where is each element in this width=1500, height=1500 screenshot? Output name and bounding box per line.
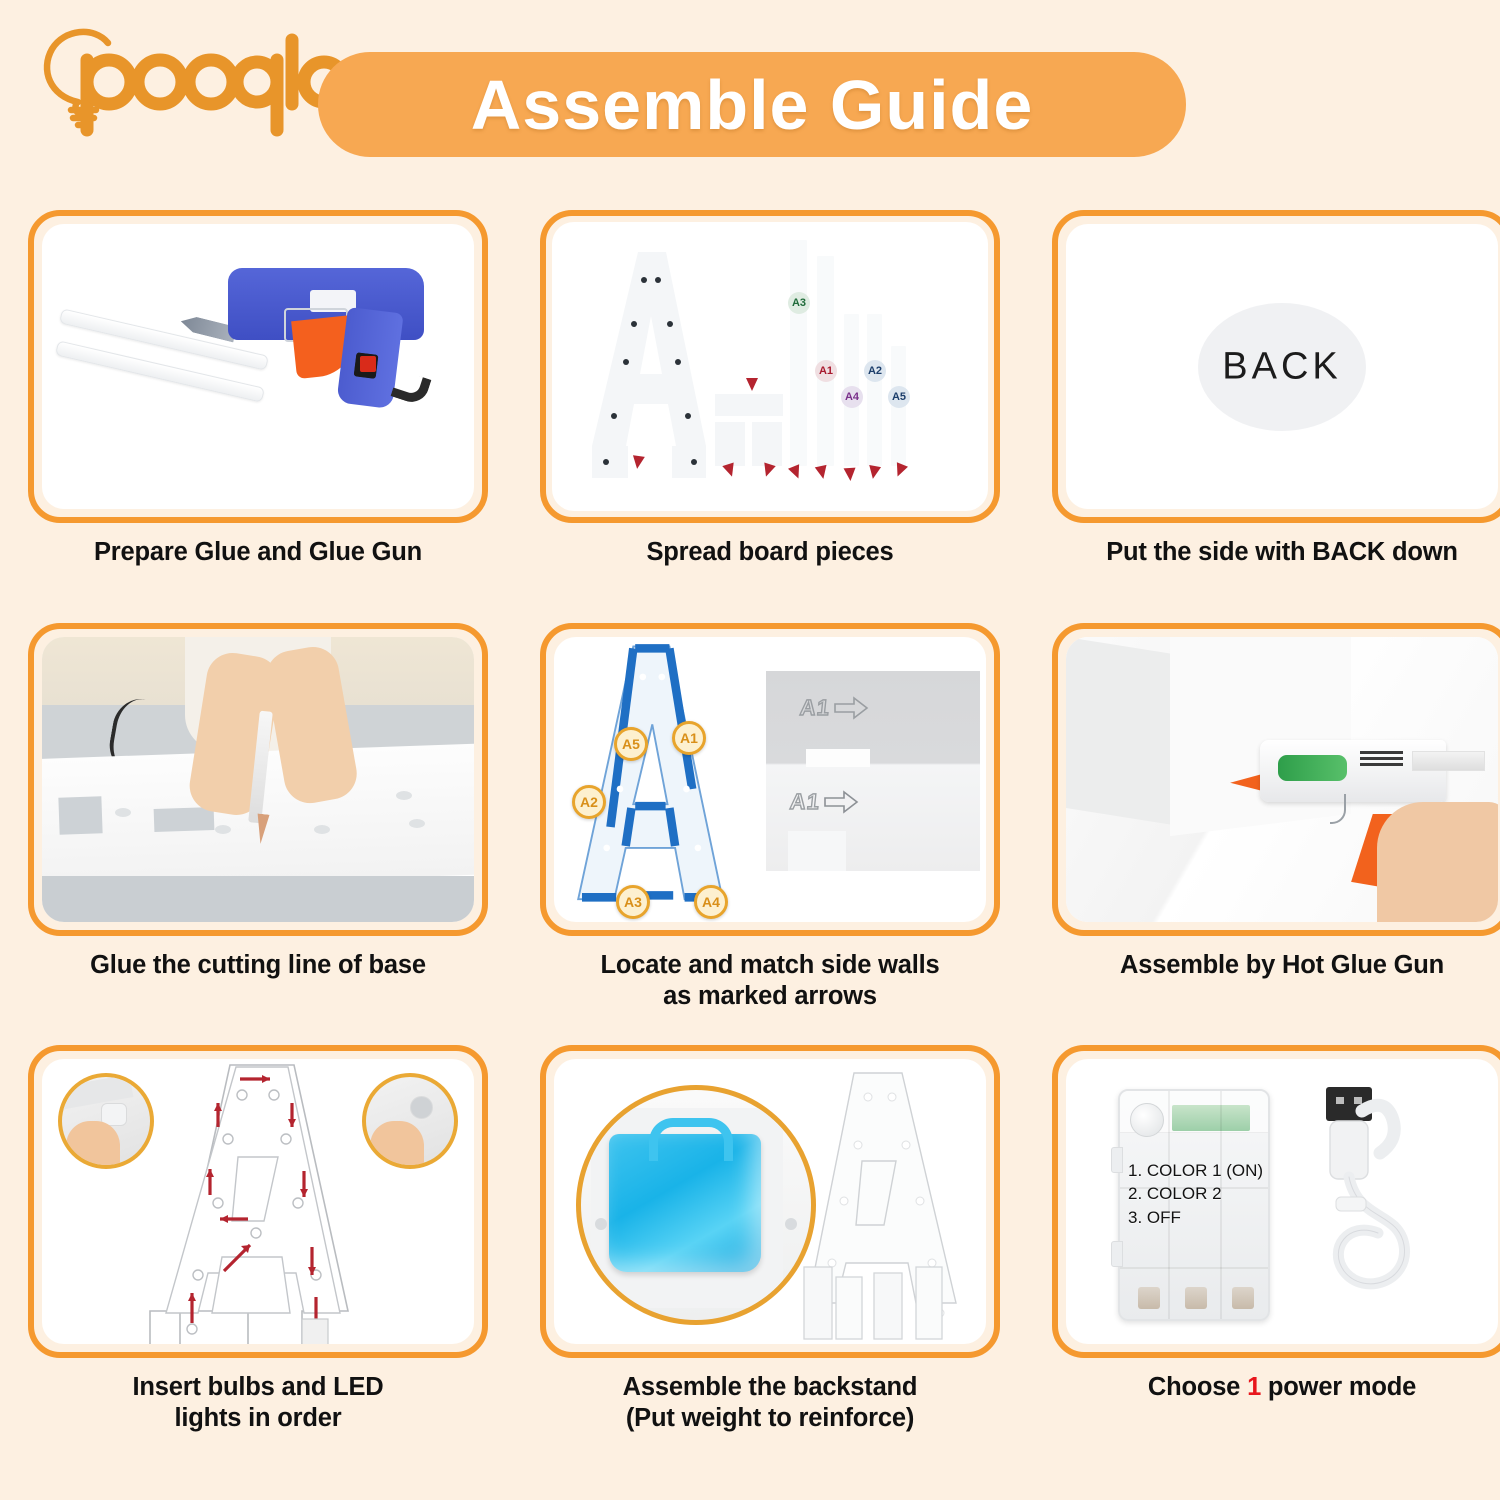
step-9-caption-prefix: Choose — [1148, 1373, 1247, 1401]
step-9-image-frame: 1. COLOR 1 (ON) 2. COLOR 2 3. OFF — [1052, 1045, 1500, 1358]
badge-a3: A3 — [616, 885, 650, 919]
step-7-caption: Insert bulbs and LED lights in order — [28, 1372, 488, 1434]
floor-strip — [42, 876, 474, 922]
step-card-3: BACK Put the side with BACK down — [1052, 210, 1500, 568]
backstand-leg — [836, 1277, 862, 1339]
badge-a1: A1 — [815, 360, 837, 382]
base-board-letter-a — [576, 250, 716, 482]
label-base-board: Base Board — [559, 484, 681, 503]
step-9-caption-suffix: power mode — [1261, 1373, 1416, 1401]
power-mode-switch[interactable] — [1130, 1103, 1164, 1137]
letter-a-outline — [152, 1061, 372, 1344]
power-mode-option-2: 2. COLOR 2 — [1128, 1182, 1263, 1205]
bulb-hole — [396, 791, 412, 800]
hand — [370, 1121, 425, 1169]
step-card-9: 1. COLOR 1 (ON) 2. COLOR 2 3. OFF — [1052, 1045, 1500, 1403]
step-2-caption: Spread board pieces — [540, 537, 1000, 568]
water-weight-closeup — [576, 1085, 816, 1325]
step-card-8: Assemble the backstand (Put weight to re… — [540, 1045, 1000, 1434]
bottom-backstand-callout: 1 Bottom Backstand — [704, 338, 804, 372]
assembled-letter-a — [796, 1067, 976, 1344]
badge-a1: A1 — [672, 721, 706, 755]
step-8-image-frame — [540, 1045, 1000, 1358]
board-tab — [806, 749, 870, 767]
board-slot — [59, 796, 103, 835]
page-title: Assemble Guide — [471, 70, 1034, 140]
step-8-caption: Assemble the backstand (Put weight to re… — [540, 1372, 1000, 1434]
step-8-caption-line-2: (Put weight to reinforce) — [626, 1404, 914, 1432]
badge-a4: A4 — [694, 885, 728, 919]
step-card-6: Assemble by Hot Glue Gun — [1052, 623, 1500, 981]
backstand-piece — [715, 394, 783, 416]
backstand-leg — [916, 1267, 942, 1339]
backstand-leg — [804, 1267, 832, 1339]
back-board-text: BACK — [1222, 345, 1341, 388]
step-1-image-frame — [28, 210, 488, 523]
step-card-4: Glue the cutting line of base — [28, 623, 488, 981]
step-4-caption: Glue the cutting line of base — [28, 950, 488, 981]
board-slot — [154, 807, 215, 832]
step-6-caption: Assemble by Hot Glue Gun — [1052, 950, 1500, 981]
red-arrow-icon — [760, 462, 775, 478]
screw-left — [595, 1218, 607, 1230]
badge-a3: A3 — [788, 292, 810, 314]
usb-cable — [1300, 1081, 1490, 1331]
led-insertion-order-diagram — [42, 1059, 474, 1344]
step-7-caption-line-2: lights in order — [174, 1404, 341, 1432]
battery-cells — [1126, 1275, 1266, 1309]
badge-a2: A2 — [864, 360, 886, 382]
power-mode-list: 1. COLOR 1 (ON) 2. COLOR 2 3. OFF — [1128, 1159, 1263, 1229]
step-5-image-frame: A5 A1 A2 A3 A4 A1 A1 — [540, 623, 1000, 936]
glue-stick-icon — [1412, 751, 1485, 771]
assemble-guide-page: Assemble Guide Prepare Glue and Glue — [0, 0, 1500, 1500]
label-wall-boards: 5 Wall Boards — [829, 484, 981, 503]
red-arrow-icon — [746, 378, 758, 391]
mark-label: A1 — [799, 695, 832, 721]
label-backstands: 2 Backstands — [681, 484, 829, 503]
step-8-caption-line-1: Assemble the backstand — [623, 1373, 918, 1401]
red-arrow-icon — [815, 465, 829, 480]
step-card-5: A5 A1 A2 A3 A4 A1 A1 — [540, 623, 1000, 1012]
side-wall-matching-diagram: A5 A1 A2 A3 A4 A1 A1 — [554, 637, 986, 922]
board-notch — [788, 831, 846, 871]
glue-gun-power-switch — [360, 356, 376, 372]
red-arrow-icon — [867, 465, 881, 480]
badge-a2: A2 — [572, 785, 606, 819]
gluing-base-cutting-line-photo — [42, 637, 474, 922]
step-5-caption: Locate and match side walls as marked ar… — [540, 950, 1000, 1012]
board-pieces-labels: Base Board2 Backstands5 Wall Boards — [552, 484, 988, 503]
step-card-7: Insert bulbs and LED lights in order — [28, 1045, 488, 1434]
wall-board-a2 — [867, 314, 882, 466]
step-7-image-frame — [28, 1045, 488, 1358]
step-4-image-frame — [28, 623, 488, 936]
steps-grid: Prepare Glue and Glue Gun — [0, 190, 1500, 1500]
cable-tie — [1336, 1197, 1366, 1211]
step-9-caption-highlight: 1 — [1247, 1373, 1261, 1401]
back-side-board-photo: BACK — [1066, 224, 1498, 509]
glue-gun-power-cord — [391, 369, 432, 406]
board-panel-upright — [1170, 637, 1351, 836]
step-3-image-frame: BACK — [1052, 210, 1500, 523]
board-wall-left — [1066, 637, 1178, 826]
red-arrow-icon — [788, 464, 804, 481]
glue-gun-vents — [1360, 751, 1403, 782]
lightbulb-icon — [24, 18, 314, 138]
red-arrow-icon — [844, 468, 857, 482]
letter-a-with-side-walls — [558, 637, 758, 922]
badge-a4: A4 — [841, 386, 863, 408]
step-card-1: Prepare Glue and Glue Gun — [28, 210, 488, 568]
backstand-piece — [752, 422, 782, 466]
screw-right — [785, 1218, 797, 1230]
mark-label: A1 — [789, 789, 822, 815]
board-edge-photo: A1 A1 — [766, 671, 980, 871]
step-5-caption-line-2: as marked arrows — [663, 982, 877, 1010]
backstand-leg — [874, 1273, 902, 1339]
step-9-caption: Choose 1 power mode — [1052, 1372, 1500, 1403]
backstand-with-water-weight-photo — [554, 1059, 986, 1344]
hot-glue-gun-assembly-photo — [1066, 637, 1498, 922]
box-clip — [1111, 1147, 1123, 1173]
hand — [66, 1121, 121, 1169]
step-7-caption-line-1: Insert bulbs and LED — [132, 1373, 383, 1401]
right-arrow-outline-icon — [834, 697, 868, 719]
board-mark-a1-upper: A1 — [800, 695, 868, 721]
step-5-caption-line-1: Locate and match side walls — [601, 951, 940, 979]
badge-a5: A5 — [614, 727, 648, 761]
board-pieces-layout-photo: 1 Bottom Backstand A3 A1 A4 A2 A5 — [552, 222, 988, 511]
step-1-caption: Prepare Glue and Glue Gun — [28, 537, 488, 568]
box-clip — [1111, 1241, 1123, 1267]
hand — [1377, 802, 1498, 922]
battery-box-and-usb-cable-photo: 1. COLOR 1 (ON) 2. COLOR 2 3. OFF — [1066, 1059, 1498, 1344]
glue-gun-and-sticks-photo — [42, 224, 474, 509]
step-2-image-frame: 1 Bottom Backstand A3 A1 A4 A2 A5 — [540, 210, 1000, 523]
board-mark-a1-lower: A1 — [790, 789, 858, 815]
step-6-image-frame — [1052, 623, 1500, 936]
power-mode-option-3: 3. OFF — [1128, 1206, 1263, 1229]
badge-a5: A5 — [888, 386, 910, 408]
backstand-piece — [715, 422, 745, 466]
brand-logo — [24, 18, 314, 138]
red-arrow-icon — [631, 455, 645, 470]
glue-gun-brand-label — [1278, 755, 1347, 781]
bulb-socket — [410, 1096, 433, 1119]
battery-box-small — [302, 1319, 328, 1344]
power-mode-option-1: 1. COLOR 1 (ON) — [1128, 1159, 1263, 1182]
circuit-board — [1172, 1105, 1250, 1131]
bulb-hole — [215, 825, 231, 834]
bulb-screw-photo — [362, 1073, 458, 1169]
blue-water-bag-weight — [609, 1134, 761, 1272]
page-header: Assemble Guide — [0, 0, 1500, 190]
wall-board-a3 — [790, 240, 807, 466]
step-3-caption: Put the side with BACK down — [1052, 537, 1500, 568]
page-title-banner: Assemble Guide — [318, 52, 1186, 157]
step-card-2: 1 Bottom Backstand A3 A1 A4 A2 A5 — [540, 210, 1000, 568]
bulb-insert-photo — [58, 1073, 154, 1169]
right-arrow-outline-icon — [824, 791, 858, 813]
